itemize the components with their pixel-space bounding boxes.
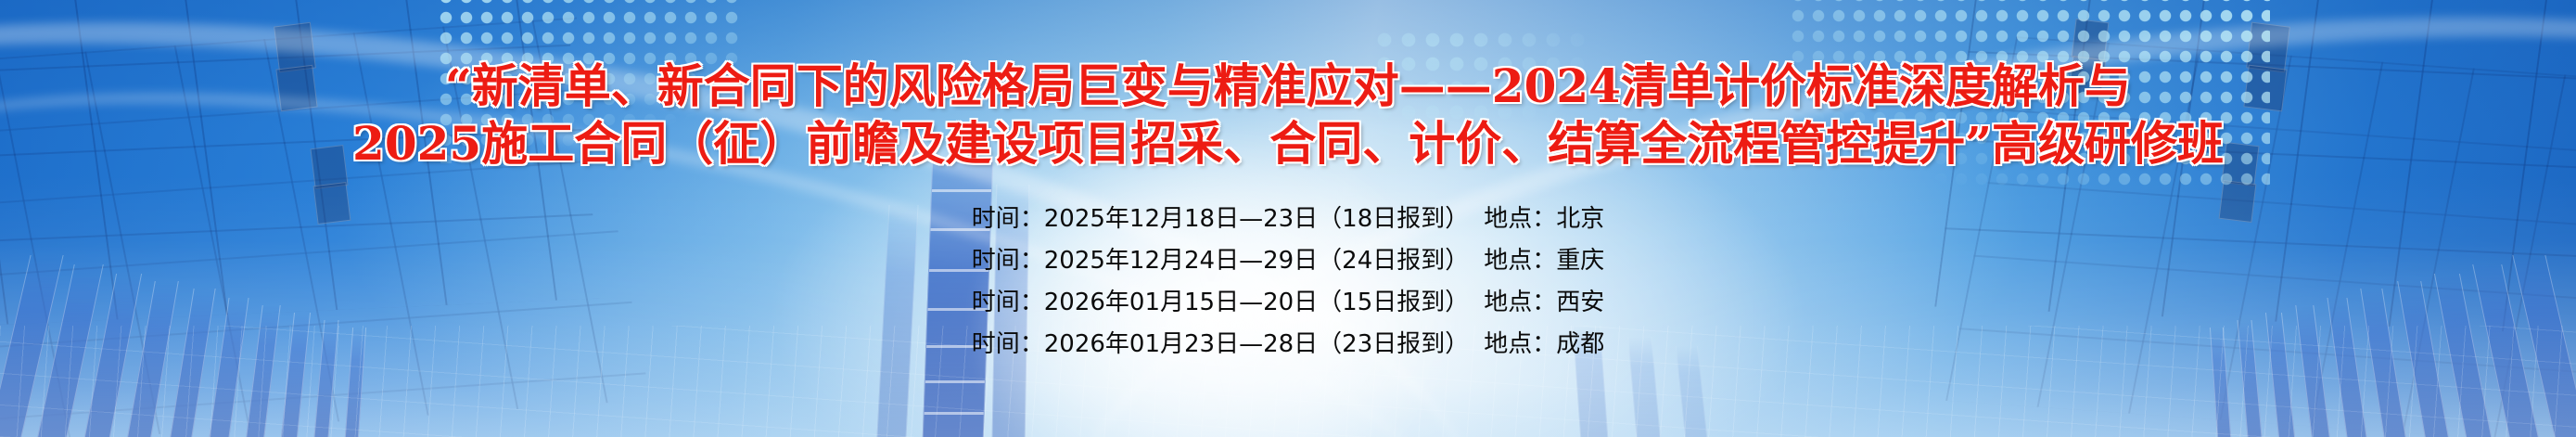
session-place-label: 地点： [1484,289,1556,316]
session-time-value: 2025年12月18日—23日（18日报到） [1044,205,1470,233]
session-place-label: 地点： [1484,330,1556,358]
session-place-label: 地点： [1484,247,1556,275]
session-list: 时间：2025年12月18日—23日（18日报到）地点：北京 时间：2025年1… [0,199,2576,366]
session-place-value: 重庆 [1556,247,1604,275]
session-time-label: 时间： [972,247,1044,275]
session-time-label: 时间： [972,205,1044,233]
session-row: 时间：2025年12月24日—29日（24日报到）地点：重庆 [0,240,2576,282]
session-place-label: 地点： [1484,205,1556,233]
session-row: 时间：2026年01月15日—20日（15日报到）地点：西安 [0,282,2576,324]
session-row: 时间：2026年01月23日—28日（23日报到）地点：成都 [0,324,2576,366]
session-time-value: 2026年01月23日—28日（23日报到） [1044,330,1470,358]
title-line-2: 2025施工合同（征）前瞻及建设项目招采、合同、计价、结算全流程管控提升”高级研… [0,115,2576,173]
session-place-value: 北京 [1556,205,1604,233]
session-row: 时间：2025年12月18日—23日（18日报到）地点：北京 [0,199,2576,240]
session-place-value: 成都 [1556,330,1604,358]
event-banner: “新清单、新合同下的风险格局巨变与精准应对——2024清单计价标准深度解析与 2… [0,0,2576,437]
session-time-label: 时间： [972,289,1044,316]
banner-title: “新清单、新合同下的风险格局巨变与精准应对——2024清单计价标准深度解析与 2… [0,58,2576,173]
title-line-1: “新清单、新合同下的风险格局巨变与精准应对——2024清单计价标准深度解析与 [0,58,2576,115]
session-time-label: 时间： [972,330,1044,358]
session-time-value: 2026年01月15日—20日（15日报到） [1044,289,1470,316]
session-time-value: 2025年12月24日—29日（24日报到） [1044,247,1470,275]
session-place-value: 西安 [1556,289,1604,316]
